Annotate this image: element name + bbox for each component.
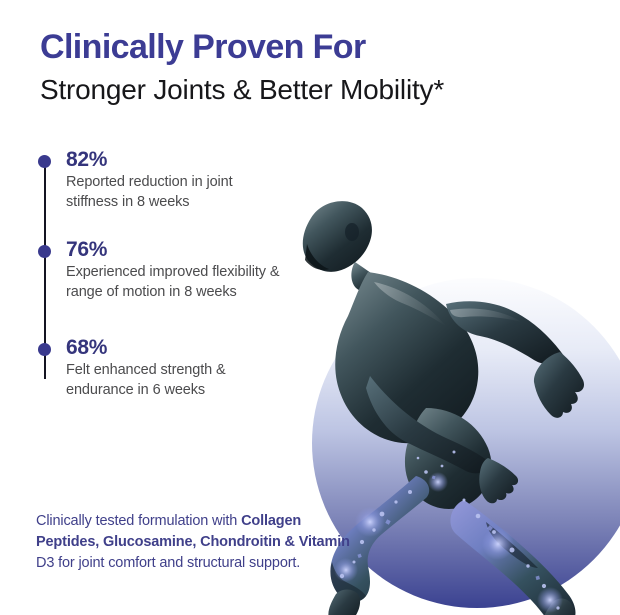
stats-timeline: 82% Reported reduction in joint stiffnes… <box>38 148 288 400</box>
stat-description: Experienced improved flexibility & range… <box>66 263 281 302</box>
stat-item-1: 82% Reported reduction in joint stiffnes… <box>38 148 288 212</box>
stat-description: Felt enhanced strength & endurance in 6 … <box>66 361 281 400</box>
title-block: Clinically Proven For Stronger Joints & … <box>40 28 500 106</box>
page-subtitle: Stronger Joints & Better Mobility* <box>40 73 500 106</box>
timeline-dot-icon <box>38 245 51 258</box>
stat-value: 68% <box>66 336 288 360</box>
formulation-note: Clinically tested formulation with Colla… <box>36 511 366 575</box>
stat-description: Reported reduction in joint stiffness in… <box>66 173 281 212</box>
page-title: Clinically Proven For <box>40 28 500 67</box>
infographic-panel: Clinically Proven For Stronger Joints & … <box>0 0 620 615</box>
stat-item-3: 68% Felt enhanced strength & endurance i… <box>38 336 288 400</box>
timeline-dot-icon <box>38 155 51 168</box>
stat-item-2: 76% Experienced improved flexibility & r… <box>38 238 288 302</box>
stat-value: 82% <box>66 148 288 172</box>
timeline-dot-icon <box>38 343 51 356</box>
formulation-note-lead: Clinically tested formulation with <box>36 513 241 529</box>
stat-value: 76% <box>66 238 288 262</box>
formulation-note-tail: D3 for joint comfort and structural supp… <box>36 555 300 571</box>
